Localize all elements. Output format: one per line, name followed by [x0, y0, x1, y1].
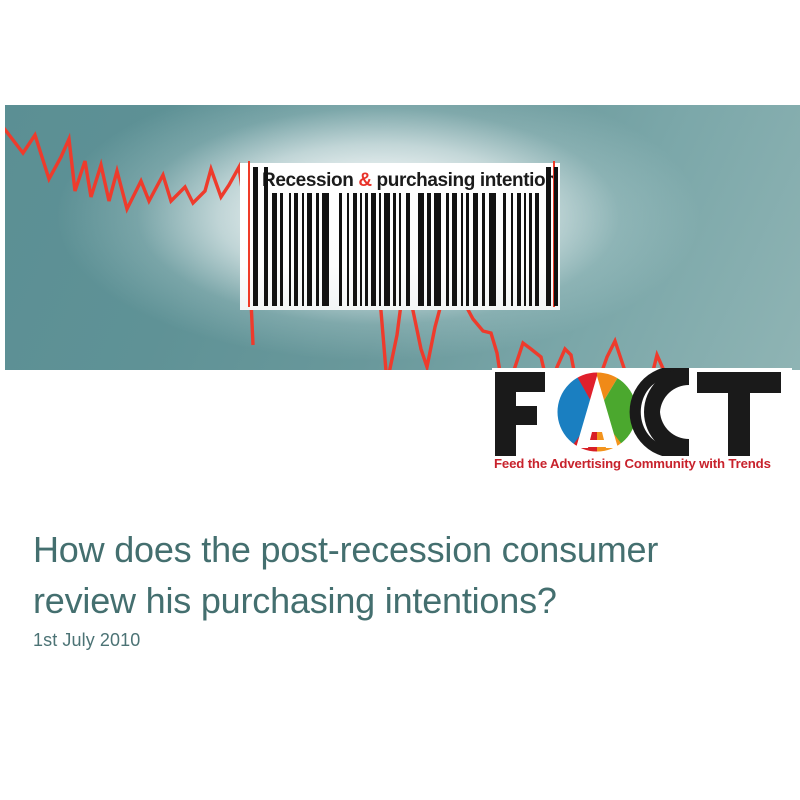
barcode-bar: [393, 193, 396, 306]
barcode-bar: [307, 193, 312, 306]
page-date: 1st July 2010: [33, 630, 140, 651]
barcode-bar: [554, 167, 558, 306]
barcode-bar: [517, 193, 521, 306]
barcode-bar: [379, 193, 381, 306]
barcode-graphic: Recession & purchasing intention: [240, 163, 560, 310]
hero-banner: Recession & purchasing intention: [5, 105, 800, 370]
logo-letter-t: [697, 372, 781, 456]
barcode-bar: [272, 193, 277, 306]
barcode-bar: [316, 193, 319, 306]
barcode-caption-pre: Recession: [262, 170, 358, 191]
page-title-line-2: review his purchasing intentions?: [33, 575, 763, 626]
barcode-bar: [489, 193, 496, 306]
barcode-bar: [347, 193, 349, 306]
slide-canvas: Recession & purchasing intention: [0, 0, 800, 800]
page-title-line-1: How does the post-recession consumer: [33, 524, 763, 575]
barcode-bar: [365, 193, 368, 306]
barcode-bar: [524, 193, 526, 306]
barcode-bar: [339, 193, 342, 306]
logo-letter-a-pie: [555, 368, 642, 456]
page-title: How does the post-recession consumer rev…: [33, 524, 763, 626]
barcode-bar: [264, 167, 268, 306]
barcode-bar: [360, 193, 362, 306]
barcode-bar: [289, 193, 291, 306]
barcode-bar: [353, 193, 357, 306]
logo-letter-c: [630, 368, 689, 456]
barcode-bar: [434, 193, 441, 306]
barcode-bar: [535, 193, 539, 306]
barcode-caption: Recession & purchasing intention: [262, 167, 556, 195]
barcode-caption-post: purchasing intention: [372, 170, 557, 191]
barcode-bar: [503, 193, 506, 306]
fact-logo-lettermark: [492, 368, 792, 456]
barcode-bar: [452, 193, 457, 306]
barcode-bar: [529, 193, 532, 306]
barcode-bar: [384, 193, 390, 306]
fact-logo: Feed the Advertising Community with Tren…: [492, 368, 792, 480]
barcode-bar: [473, 193, 478, 306]
barcode-bar: [461, 193, 463, 306]
barcode-bar: [280, 193, 283, 306]
barcode-bar: [399, 193, 401, 306]
barcode-bar: [546, 167, 551, 306]
barcode-bar: [294, 193, 298, 306]
barcode-bar: [511, 193, 513, 306]
barcode-bar: [253, 167, 258, 306]
pie-a-crossbar-gap: [580, 440, 614, 447]
barcode-caption-ampersand: &: [358, 170, 371, 191]
barcode-bars-group: [250, 193, 550, 306]
fact-logo-tagline: Feed the Advertising Community with Tren…: [494, 456, 792, 471]
barcode-bar: [482, 193, 485, 306]
barcode-bar: [322, 193, 329, 306]
barcode-bar: [427, 193, 431, 306]
trendline-left-segment: [5, 127, 253, 345]
barcode-bar: [418, 193, 424, 306]
logo-letter-f: [495, 372, 545, 456]
barcode-bar: [406, 193, 410, 306]
barcode-bar: [466, 193, 469, 306]
barcode-bar: [302, 193, 304, 306]
barcode-bar: [446, 193, 449, 306]
barcode-bar: [371, 193, 376, 306]
